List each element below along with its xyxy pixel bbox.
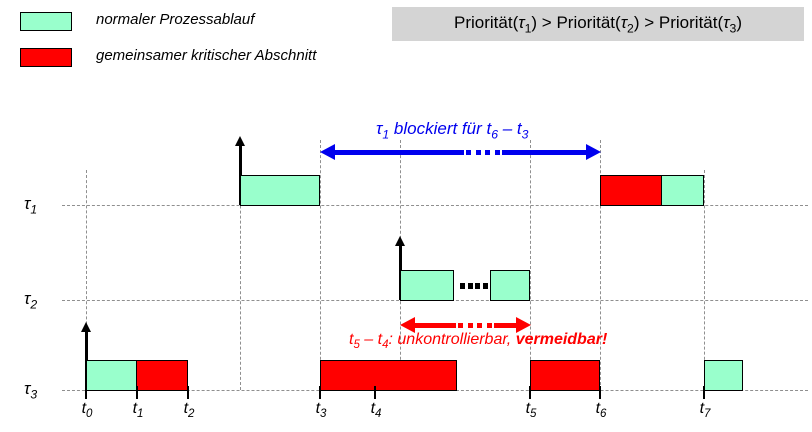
timing-diagram-canvas: normaler Prozessablauf gemeinsamer kriti… xyxy=(0,0,812,432)
annotation-blocking-arrowhead-left xyxy=(320,144,335,160)
gridline-t5 xyxy=(530,140,531,390)
axis-tick-t3 xyxy=(319,386,321,399)
priority-formula-text: Priorität(τ1) > Priorität(τ2) > Prioritä… xyxy=(454,13,742,35)
axis-label-t7: t7 xyxy=(689,400,721,420)
priority-formula-box: Priorität(τ1) > Priorität(τ2) > Prioritä… xyxy=(392,7,804,41)
bar-tau2-normal-1 xyxy=(400,270,454,301)
annotation-uncontrollable-label: t5 – t4: unkontrollierbar, vermeidbar! xyxy=(349,331,607,351)
axis-tick-t0 xyxy=(85,386,87,399)
axis-tick-t2 xyxy=(187,386,189,399)
bar-tau3-normal-1 xyxy=(86,360,137,391)
axis-tick-t4 xyxy=(374,386,376,399)
row-label-tau2: τ2 xyxy=(24,289,37,311)
row-label-tau3: τ3 xyxy=(24,379,37,401)
legend-label-critical: gemeinsamer kritischer Abschnitt xyxy=(96,47,316,64)
legend-label-normal: normaler Prozessablauf xyxy=(96,11,254,28)
axis-tick-t6 xyxy=(599,386,601,399)
axis-label-t0: t0 xyxy=(71,400,103,420)
row-label-tau1: τ1 xyxy=(24,194,37,216)
axis-tick-t5 xyxy=(529,386,531,399)
axis-label-t2: t2 xyxy=(173,400,205,420)
axis-label-t3: t3 xyxy=(305,400,337,420)
axis-label-t6: t6 xyxy=(585,400,617,420)
bar-tau3-critical-1 xyxy=(136,360,188,391)
arrival-arrow-head-tau3-t0 xyxy=(81,322,91,332)
bar-tau1-critical-1 xyxy=(600,175,662,206)
bar-tau2-normal-2 xyxy=(490,270,530,301)
bar-tau3-critical-2 xyxy=(320,360,457,391)
annotation-blocking-dots xyxy=(466,150,500,155)
gridline-t7 xyxy=(704,170,705,390)
bar-tau3-critical-3 xyxy=(530,360,600,391)
annotation-blocking-line-left xyxy=(334,150,464,155)
axis-label-t4: t4 xyxy=(360,400,392,420)
bar-tau3-normal-2 xyxy=(704,360,743,391)
annotation-blocking-arrowhead-right xyxy=(586,144,601,160)
axis-tick-t1 xyxy=(136,386,138,399)
gridline-t3 xyxy=(320,140,321,390)
annotation-blocking-label: τ1 blockiert für t6 – t3 xyxy=(376,119,528,141)
bar-tau1-normal-1 xyxy=(240,175,320,206)
legend-swatch-critical xyxy=(20,48,72,67)
annotation-blocking-line-right xyxy=(502,150,586,155)
axis-label-t5: t5 xyxy=(515,400,547,420)
preempted-gap-dots-tau2 xyxy=(460,281,488,290)
annotation-uncontrollable-dots xyxy=(458,323,492,328)
arrival-arrow-head-tau2-t4 xyxy=(395,236,405,246)
annotation-uncontrollable-line-left xyxy=(414,323,456,328)
annotation-uncontrollable-line-right xyxy=(494,323,516,328)
arrival-arrow-head-tau1-t2 xyxy=(235,136,245,146)
legend-swatch-normal xyxy=(20,12,72,31)
axis-label-t1: t1 xyxy=(122,400,154,420)
axis-tick-t7 xyxy=(703,386,705,399)
bar-tau1-normal-2 xyxy=(661,175,704,206)
